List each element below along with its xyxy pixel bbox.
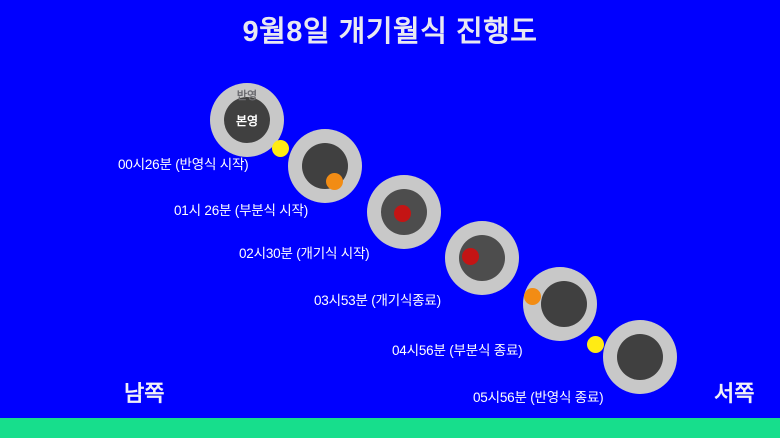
time-label-1: 00시26분 (반영식 시작) bbox=[118, 153, 248, 173]
eclipse-diagram: 9월8일 개기월식 진행도 반영 본영 00시26분 (반영식 시작) 01시 … bbox=[0, 0, 780, 438]
direction-label-south: 남쪽 bbox=[124, 376, 164, 408]
penumbra-label: 반영 bbox=[227, 87, 267, 103]
moon-marker-5 bbox=[524, 288, 541, 305]
direction-label-west: 서쪽 bbox=[714, 376, 754, 408]
moon-phase-2 bbox=[288, 129, 362, 203]
moon-marker-4 bbox=[462, 248, 479, 265]
umbra-label: 본영 bbox=[227, 112, 267, 129]
moon-marker-6 bbox=[587, 336, 604, 353]
time-label-6: 05시56분 (반영식 종료) bbox=[473, 386, 603, 406]
moon-phase-4 bbox=[445, 221, 519, 295]
moon-marker-1 bbox=[272, 140, 289, 157]
page-title: 9월8일 개기월식 진행도 bbox=[0, 8, 780, 50]
time-label-5: 04시56분 (부분식 종료) bbox=[392, 339, 522, 359]
moon-marker-3 bbox=[394, 205, 411, 222]
time-label-2: 01시 26분 (부분식 시작) bbox=[174, 199, 308, 219]
umbra-circle-5 bbox=[541, 281, 587, 327]
moon-phase-6 bbox=[603, 320, 677, 394]
time-label-4: 03시53분 (개기식종료) bbox=[314, 289, 441, 309]
moon-marker-2 bbox=[326, 173, 343, 190]
umbra-circle-6 bbox=[617, 334, 663, 380]
time-label-3: 02시30분 (개기식 시작) bbox=[239, 242, 369, 262]
horizon-bar bbox=[0, 418, 780, 438]
